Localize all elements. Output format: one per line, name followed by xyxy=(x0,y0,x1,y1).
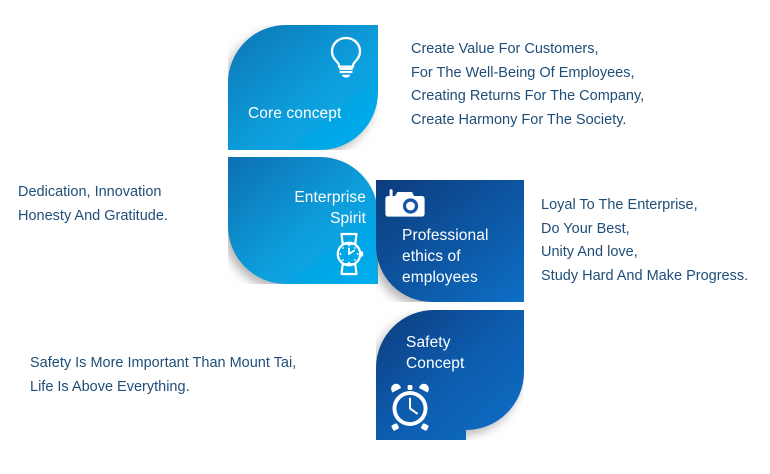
infographic-canvas: Core concept xyxy=(0,0,770,474)
caption-safety-concept: Safety Is More Important Than Mount Tai,… xyxy=(30,352,320,399)
caption-enterprise-spirit: Dedication, Innovation Honesty And Grati… xyxy=(18,181,228,228)
petal-safety-concept[interactable]: Safety Concept xyxy=(376,310,524,440)
lightbulb-icon xyxy=(326,35,366,79)
alarm-clock-icon xyxy=(386,382,434,432)
petal-core-concept[interactable]: Core concept xyxy=(228,25,378,150)
petal-enterprise-spirit[interactable]: Enterprise Spirit xyxy=(228,157,378,284)
petal-professional-ethics[interactable]: Professional ethics of employees xyxy=(376,180,524,302)
caption-professional-ethics: Loyal To The Enterprise, Do Your Best, U… xyxy=(541,194,766,288)
caption-core-concept: Create Value For Customers, For The Well… xyxy=(411,38,731,132)
wristwatch-icon xyxy=(328,230,370,278)
camera-icon xyxy=(384,186,426,222)
